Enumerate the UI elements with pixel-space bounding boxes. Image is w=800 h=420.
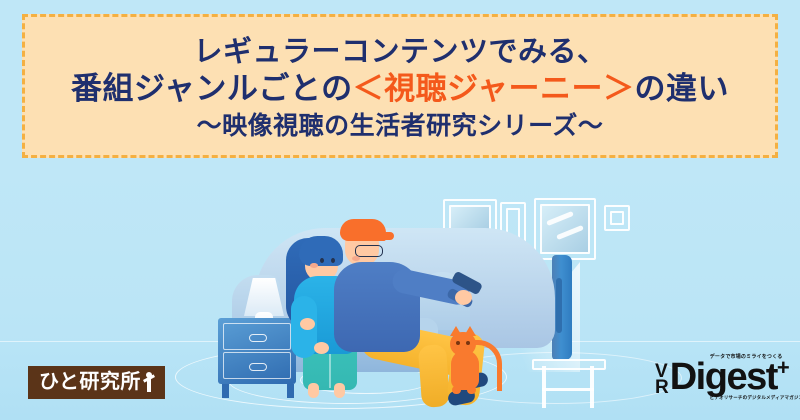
vr-mark: V R [655,364,668,396]
man-cap-brim [376,232,394,240]
person-icon [143,371,155,393]
vr-digest-logo[interactable]: V R データで市場のミライをつくる Digest+ ビデオリサーチのデジタルメ… [655,358,788,396]
cat-leg-left [452,386,461,394]
cat-leg-right [467,386,476,394]
nightstand-leg-right [287,384,294,398]
tv-stand-shelf [542,388,594,391]
woman-eye-right [331,258,335,263]
title-line-3: 〜映像視聴の生活者研究シリーズ〜 [197,112,604,140]
title-line-2-accent: ＜視聴ジャーニー＞ [353,71,635,106]
tv-stand-leg-left [542,366,546,408]
digest-name: Digest [670,356,777,398]
man-glasses-icon [355,245,383,257]
tv-screen-edge [556,278,562,333]
woman-eye-left [320,258,324,263]
vr-letter-r: R [655,380,668,396]
digest-text: Digest+ [670,356,789,398]
nightstand-leg-left [222,384,229,398]
nightstand-drawer-bottom [223,352,291,379]
wall-frame-icon-4 [534,198,596,260]
banner-root: レギュラーコンテンツでみる、 番組ジャンルごとの＜視聴ジャーニー＞の違い 〜映像… [0,0,800,420]
digest-wordmark: データで市場のミライをつくる Digest+ ビデオリサーチのデジタルメディアマ… [670,358,789,395]
title-line-1: レギュラーコンテンツでみる、 [193,36,606,68]
title-line-2: 番組ジャンルごとの＜視聴ジャーニー＞の違い [71,72,729,107]
drawer-handle-icon [249,363,267,371]
hito-lab-logo[interactable]: ひと研究所 [28,366,165,399]
cat-eye-right [466,341,470,345]
tv-set [552,255,572,360]
vr-digest-tagline-bottom: ビデオリサーチのデジタルメディアマガジン [710,395,800,401]
man-cheek [352,256,360,261]
title-box: レギュラーコンテンツでみる、 番組ジャンルごとの＜視聴ジャーニー＞の違い 〜映像… [22,14,778,158]
drawer-handle-icon [249,334,267,342]
vr-digest-tagline-top: データで市場のミライをつくる [710,353,783,360]
woman-foot-left [308,383,319,398]
man-hand [455,290,472,305]
woman-foot-right [334,383,345,398]
tv-stand-leg-right [590,366,594,408]
title-line-2-prefix: 番組ジャンルごとの [71,71,353,106]
cat-eye-left [456,341,460,345]
nightstand-drawer-top [223,323,291,350]
cat-body [451,350,479,390]
woman-cheek [310,263,318,268]
woman-hand-lower [314,342,329,354]
cat-head [450,332,476,356]
nightstand [218,318,296,384]
title-line-2-suffix: の違い [635,71,730,106]
hito-lab-label: ひと研究所 [39,372,141,392]
wall-frame-icon-5 [604,205,630,231]
woman-hand-upper [300,318,315,330]
man-shin-back [418,344,450,408]
